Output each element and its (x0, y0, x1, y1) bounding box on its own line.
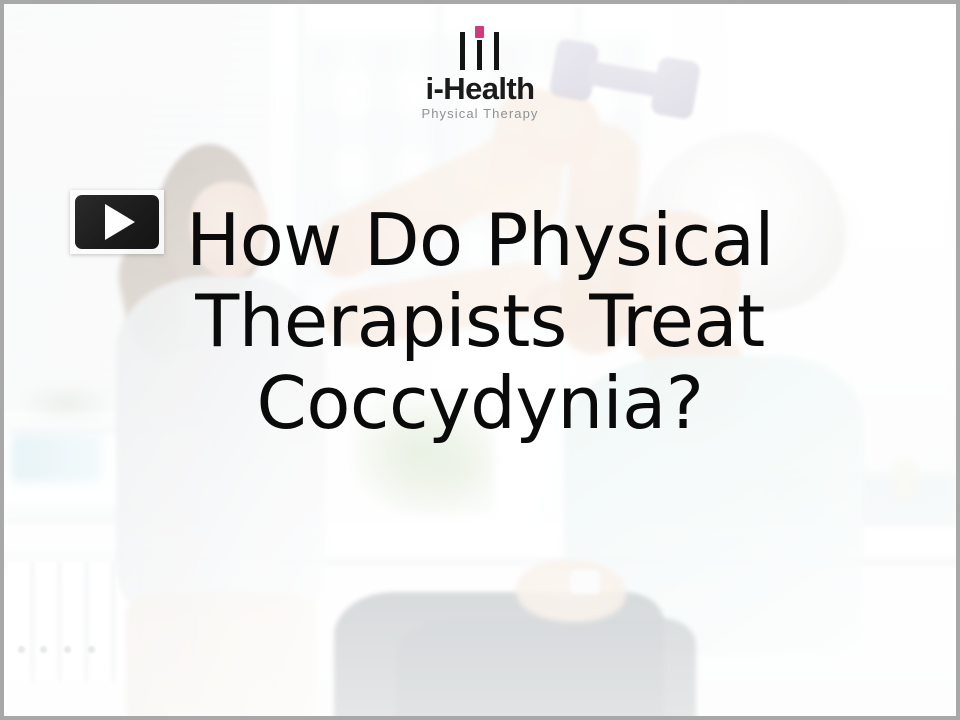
brand-logo: i-Health Physical Therapy (4, 26, 956, 120)
patient-leg (396, 618, 696, 716)
binder-label-dot (40, 646, 47, 653)
shelf-bottle (894, 459, 916, 499)
logo-bar-right (494, 32, 499, 70)
logo-bar-left (460, 32, 465, 70)
i-health-bars-mark-icon (454, 26, 506, 70)
play-triangle-icon (105, 204, 135, 240)
logo-bar-middle (477, 40, 482, 70)
play-button[interactable] (70, 190, 164, 254)
potted-plant (354, 396, 494, 516)
play-button-surface (75, 195, 159, 249)
binder-label-dot (64, 646, 71, 653)
small-plant (18, 382, 114, 418)
binder-label-dot (88, 646, 95, 653)
therapist-pants (126, 592, 316, 716)
therapist-torso (116, 276, 326, 616)
teal-storage-box (12, 434, 102, 482)
logo-name: i-Health (426, 73, 535, 104)
patient-wristband (570, 570, 600, 594)
video-thumbnail-slide: i-Health Physical Therapy How Do Physica… (0, 0, 960, 720)
binder-label-dot (18, 646, 25, 653)
logo-accent-dot-icon (475, 26, 484, 38)
logo-tagline: Physical Therapy (421, 107, 538, 120)
